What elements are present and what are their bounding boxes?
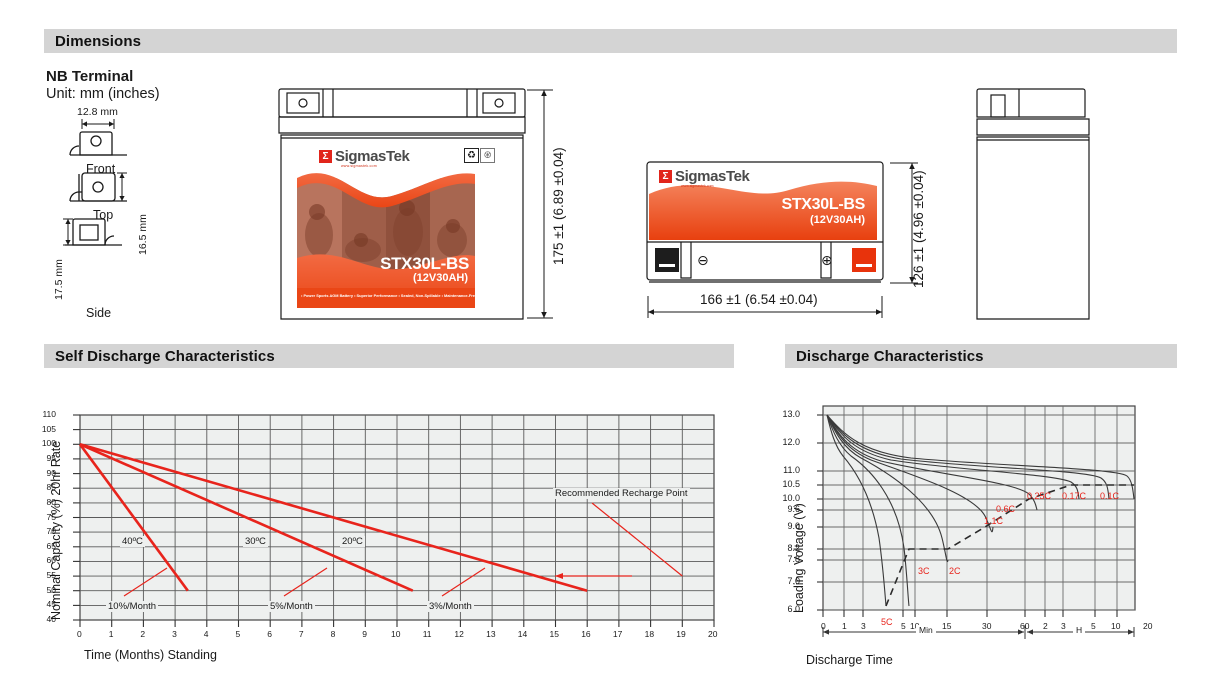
discharge-chart bbox=[805, 398, 1150, 630]
terminal-title: NB Terminal bbox=[46, 68, 133, 85]
terminal-view-side: Side bbox=[86, 306, 111, 320]
annotation-20c: 20ºC bbox=[340, 536, 365, 547]
terminal-diagrams bbox=[44, 118, 194, 318]
battery-spec-top: (12V30AH) bbox=[810, 214, 865, 226]
terminal-unit-label: Unit: mm (inches) bbox=[46, 86, 160, 102]
brand-website-top: www.sigmastek.com bbox=[681, 184, 714, 188]
axis-group-hour: H bbox=[1073, 625, 1085, 635]
battery-model-front: STX30L-BS bbox=[380, 254, 469, 274]
curve-label-0-6c: 0.6C bbox=[996, 504, 1015, 514]
brand-sigma-mark: Σ bbox=[319, 150, 332, 163]
terminal-view-top: Top bbox=[93, 208, 113, 222]
terminal-width-label: 12.8 mm bbox=[77, 106, 118, 118]
terminal-height-label: 16.5 mm bbox=[137, 214, 149, 255]
curve-label-3c: 3C bbox=[918, 566, 930, 576]
no-disposal-icon: ♼ bbox=[480, 148, 495, 163]
annotation-3-percent-month: 3%/Month bbox=[427, 601, 474, 612]
section-header-self-discharge: Self Discharge Characteristics bbox=[44, 344, 734, 368]
terminal-positive-symbol: ⊕ bbox=[821, 252, 833, 269]
section-header-discharge: Discharge Characteristics bbox=[785, 344, 1177, 368]
terminal-positive-bar bbox=[856, 264, 872, 267]
battery-front-label: Σ SigmasTek www.sigmastek.com STX30L-BS … bbox=[297, 140, 475, 308]
self-discharge-xlabel: Time (Months) Standing bbox=[84, 648, 217, 662]
annotation-recharge-point: Recommended Recharge Point bbox=[553, 488, 690, 499]
brand-name-top: SigmasTek bbox=[675, 168, 750, 185]
section-title-self-discharge: Self Discharge Characteristics bbox=[44, 348, 275, 365]
annotation-10-percent-month: 10%/Month bbox=[106, 601, 158, 612]
battery-model-top: STX30L-BS bbox=[781, 196, 865, 214]
dimension-depth-label: 126 ±1 (4.96 ±0.04) bbox=[911, 170, 926, 288]
dimension-height-label: 175 ±1 (6.89 ±0.04) bbox=[551, 147, 566, 265]
battery-spec-front: (12V30AH) bbox=[413, 272, 468, 284]
battery-side-view bbox=[975, 85, 1095, 325]
section-title-dimensions: Dimensions bbox=[44, 33, 141, 50]
terminal-depth-label: 17.5 mm bbox=[53, 259, 65, 300]
battery-top-label: Σ SigmasTek www.sigmastek.com STX30L-BS … bbox=[649, 164, 877, 240]
brand-sigma-mark-top: Σ bbox=[659, 170, 672, 183]
terminal-negative-block bbox=[655, 248, 679, 272]
recycle-icon: ♻ bbox=[464, 148, 479, 163]
annotation-30c: 30ºC bbox=[243, 536, 268, 547]
annotation-5-percent-month: 5%/Month bbox=[268, 601, 315, 612]
dimension-width-label: 166 ±1 (6.54 ±0.04) bbox=[700, 292, 818, 307]
annotation-40c: 40ºC bbox=[120, 536, 145, 547]
curve-label-1-1c: 1.1C bbox=[984, 516, 1003, 526]
self-discharge-chart bbox=[62, 408, 722, 653]
discharge-xlabel: Discharge Time bbox=[806, 653, 893, 667]
brand-name: SigmasTek bbox=[335, 148, 410, 165]
curve-label-0-25c: 0.25C bbox=[1027, 491, 1051, 501]
axis-group-min: Min bbox=[916, 625, 936, 635]
curve-label-2c: 2C bbox=[949, 566, 961, 576]
curve-label-0-1c: 0.1C bbox=[1100, 491, 1119, 501]
brand-website: www.sigmastek.com bbox=[341, 164, 377, 168]
terminal-negative-bar bbox=[659, 264, 675, 267]
section-title-discharge: Discharge Characteristics bbox=[785, 348, 984, 365]
curve-label-0-17c: 0.17C bbox=[1062, 491, 1086, 501]
terminal-negative-symbol: ⊖ bbox=[697, 252, 709, 269]
terminal-positive-block bbox=[852, 248, 876, 272]
section-header-dimensions: Dimensions bbox=[44, 29, 1177, 53]
curve-label-5c: 5C bbox=[881, 617, 893, 627]
battery-features-front: • Power Sports AGM Battery • Superior Pe… bbox=[301, 293, 475, 298]
terminal-view-front: Front bbox=[86, 162, 115, 176]
